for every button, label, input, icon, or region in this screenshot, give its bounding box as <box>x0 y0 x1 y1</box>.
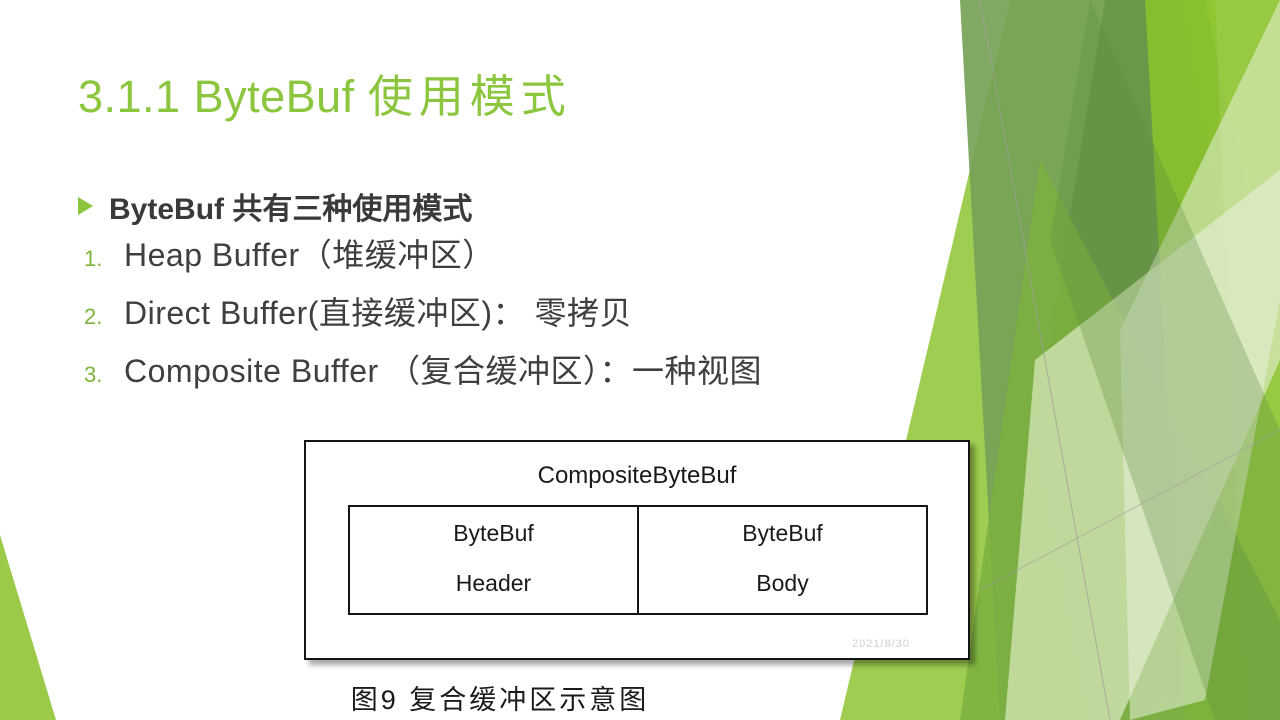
list-item: 1. Heap Buffer（堆缓冲区） <box>78 230 978 288</box>
diagram-cell-type: ByteBuf <box>350 520 637 547</box>
composite-bytebuf-diagram: CompositeByteBuf ByteBuf Header ByteBuf … <box>304 440 970 660</box>
deco-hairline-2 <box>980 430 1280 590</box>
diagram-title: CompositeByteBuf <box>306 462 968 490</box>
page-title-latin: 3.1.1 ByteBuf <box>78 71 355 122</box>
figure-caption: 图9 复合缓冲区示意图 <box>0 678 1000 717</box>
deco-hairline-1 <box>980 0 1110 720</box>
lead-bullet-row: ByteBuf 共有三种使用模式 <box>78 182 978 230</box>
page-title: 3.1.1 ByteBuf 使用模式 <box>78 60 572 125</box>
diagram-cell-role: Header <box>350 570 637 597</box>
list-item-label: Heap Buffer（堆缓冲区） <box>124 230 495 276</box>
page-title-cjk: 使用模式 <box>368 71 572 122</box>
list-item-number: 3. <box>78 362 124 388</box>
slide: 3.1.1 ByteBuf 使用模式 ByteBuf 共有三种使用模式 1. H… <box>0 0 1280 720</box>
deco-right-7 <box>1005 170 1280 720</box>
deco-right-8 <box>1120 0 1280 720</box>
list-item-number: 1. <box>78 246 124 272</box>
triangle-bullet-icon <box>78 197 93 215</box>
deco-right-3 <box>1035 0 1280 720</box>
diagram-watermark: 2021/8/30 <box>852 638 910 650</box>
deco-right-4 <box>1145 0 1280 720</box>
deco-right-6 <box>960 160 1280 720</box>
list-item-label: Direct Buffer(直接缓冲区)： 零拷贝 <box>124 288 632 334</box>
content-list: ByteBuf 共有三种使用模式 1. Heap Buffer（堆缓冲区） 2.… <box>78 182 978 404</box>
diagram-cell-header: ByteBuf Header <box>350 507 637 613</box>
diagram-inner-boxes: ByteBuf Header ByteBuf Body <box>348 505 928 615</box>
lead-bullet-label: ByteBuf 共有三种使用模式 <box>109 184 472 228</box>
deco-right-2 <box>960 0 1280 720</box>
diagram-cell-type: ByteBuf <box>639 520 926 547</box>
deco-right-9 <box>1050 0 1280 720</box>
deco-right-5 <box>1215 0 1280 720</box>
list-item-label: Composite Buffer （复合缓冲区）：一种视图 <box>124 346 762 392</box>
list-item: 3. Composite Buffer （复合缓冲区）：一种视图 <box>78 346 978 404</box>
diagram-cell-role: Body <box>639 570 926 597</box>
list-item: 2. Direct Buffer(直接缓冲区)： 零拷贝 <box>78 288 978 346</box>
diagram-cell-body: ByteBuf Body <box>637 507 926 613</box>
list-item-number: 2. <box>78 304 124 330</box>
